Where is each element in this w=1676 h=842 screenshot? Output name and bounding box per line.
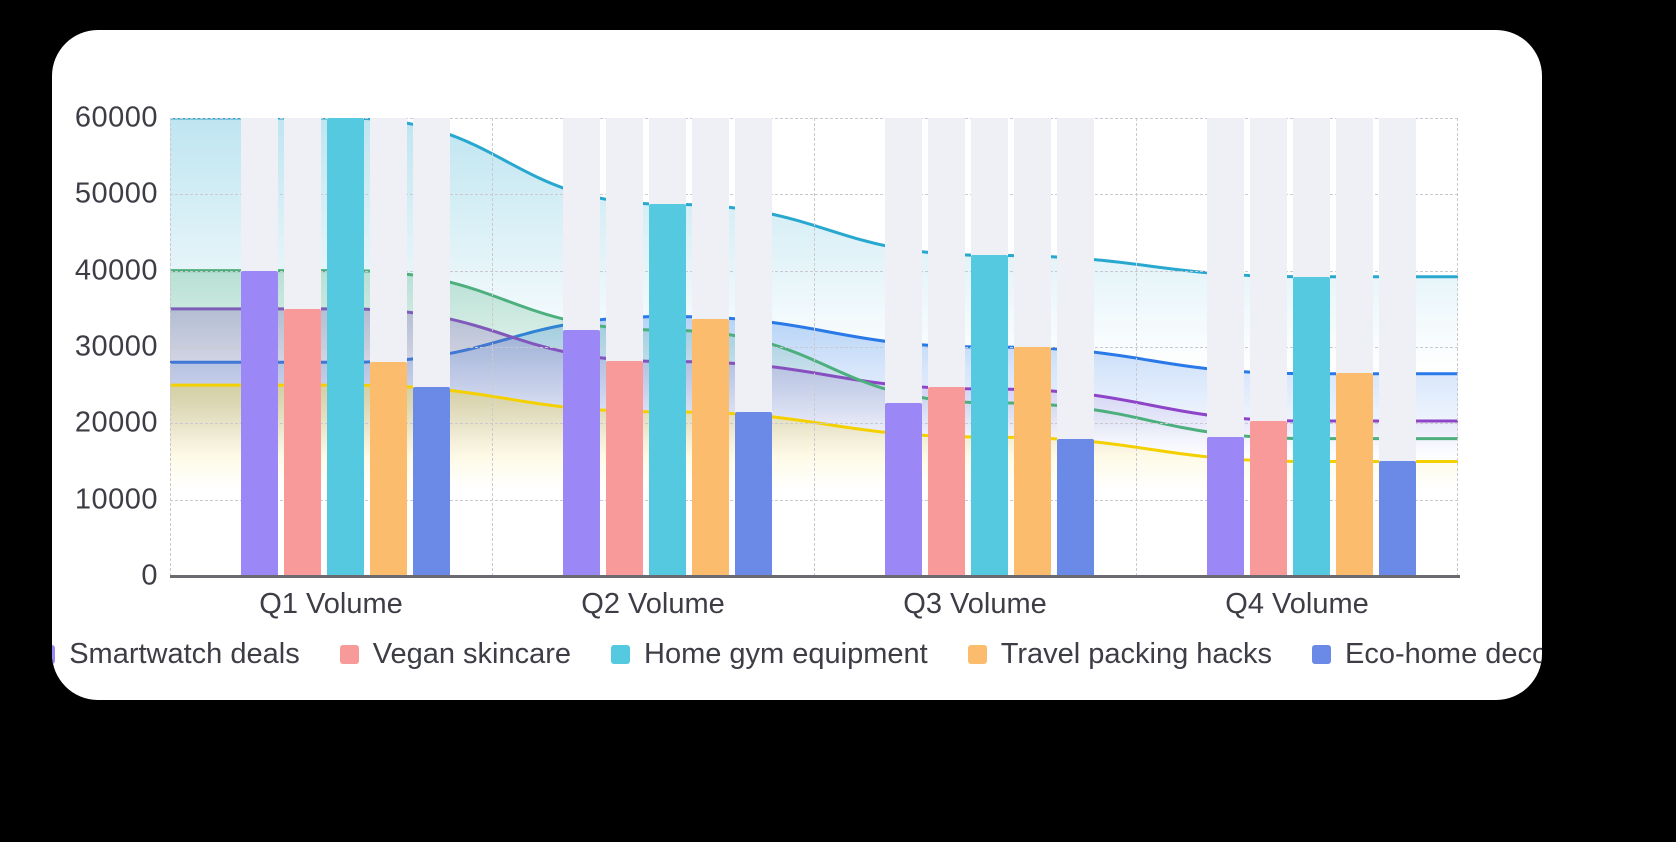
bar[interactable] — [928, 387, 965, 576]
bar[interactable] — [284, 309, 321, 576]
legend-swatch-icon — [968, 645, 987, 664]
x-axis-tick-label: Q1 Volume — [259, 588, 402, 621]
legend-swatch-icon — [1312, 645, 1331, 664]
legend-swatch-icon — [52, 645, 55, 664]
bar[interactable] — [649, 204, 686, 576]
x-axis-tick-label: Q3 Volume — [903, 588, 1046, 621]
legend-item[interactable]: Travel packing hacks — [968, 638, 1272, 671]
y-axis: 0100002000030000400005000060000 — [52, 118, 158, 576]
legend-swatch-icon — [611, 645, 630, 664]
bar[interactable] — [563, 330, 600, 576]
bar[interactable] — [1057, 439, 1094, 576]
legend-item[interactable]: Vegan skincare — [340, 638, 571, 671]
y-axis-tick-label: 20000 — [75, 407, 158, 440]
legend-item-label: Travel packing hacks — [1001, 638, 1272, 671]
bar[interactable] — [606, 361, 643, 576]
bar[interactable] — [971, 255, 1008, 576]
y-axis-tick-label: 40000 — [75, 254, 158, 287]
chart-card: 0100002000030000400005000060000 Q1 Volum… — [52, 30, 1542, 700]
y-axis-tick-label: 50000 — [75, 178, 158, 211]
legend-item[interactable]: Eco-home decor — [1312, 638, 1542, 671]
legend-item-label: Home gym equipment — [644, 638, 928, 671]
x-axis-line — [170, 575, 1460, 578]
screenshot-root: 0100002000030000400005000060000 Q1 Volum… — [0, 0, 1676, 842]
bar[interactable] — [1293, 277, 1330, 576]
bar[interactable] — [1336, 373, 1373, 576]
y-axis-tick-label: 60000 — [75, 102, 158, 135]
gridline-vertical — [1457, 118, 1458, 576]
y-axis-tick-label: 0 — [141, 560, 158, 593]
bar[interactable] — [370, 362, 407, 576]
legend-swatch-icon — [340, 645, 359, 664]
y-axis-tick-label: 30000 — [75, 331, 158, 364]
bar[interactable] — [692, 319, 729, 576]
gridline-vertical — [492, 118, 493, 576]
bar[interactable] — [885, 403, 922, 576]
x-axis-tick-label: Q4 Volume — [1225, 588, 1368, 621]
bar[interactable] — [1207, 437, 1244, 576]
x-axis-tick-label: Q2 Volume — [581, 588, 724, 621]
gridline-vertical — [814, 118, 815, 576]
gridline-vertical — [1136, 118, 1137, 576]
legend-item[interactable]: Smartwatch deals — [52, 638, 300, 671]
legend-item-label: Vegan skincare — [373, 638, 571, 671]
x-axis-labels: Q1 VolumeQ2 VolumeQ3 VolumeQ4 Volume — [170, 588, 1458, 632]
legend-item[interactable]: Home gym equipment — [611, 638, 928, 671]
plot-area[interactable] — [170, 118, 1458, 576]
bar[interactable] — [1250, 421, 1287, 576]
chart-legend[interactable]: Smartwatch dealsVegan skincareHome gym e… — [52, 638, 1542, 671]
gridline-vertical — [170, 118, 171, 576]
bar[interactable] — [1014, 347, 1051, 576]
y-axis-tick-label: 10000 — [75, 483, 158, 516]
bar[interactable] — [735, 412, 772, 576]
legend-item-label: Eco-home decor — [1345, 638, 1542, 671]
legend-item-label: Smartwatch deals — [69, 638, 300, 671]
bar[interactable] — [1379, 461, 1416, 576]
bar[interactable] — [327, 118, 364, 576]
bar[interactable] — [241, 271, 278, 576]
bar[interactable] — [413, 387, 450, 576]
